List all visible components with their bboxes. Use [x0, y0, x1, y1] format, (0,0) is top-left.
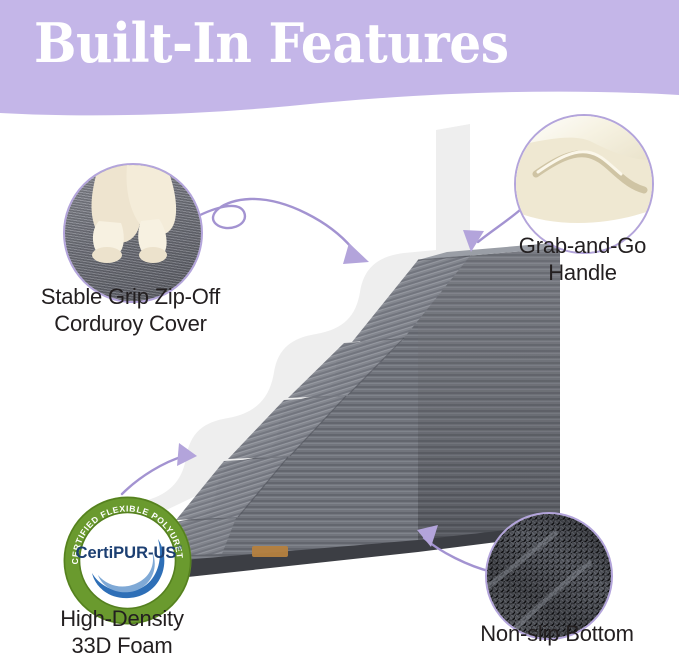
callout-label-handle: Grab-and-Go Handle — [480, 232, 679, 286]
callout-label-foam: High-Density 33D Foam — [22, 605, 222, 658]
header-banner: Built-In Features — [0, 0, 679, 125]
callout-label-nonslip: Non-slip Bottom — [442, 620, 672, 647]
callout-image-corduroy[interactable] — [63, 163, 203, 303]
callout-label-corduroy: Stable Grip Zip-Off Corduroy Cover — [3, 283, 258, 337]
badge-wordmark: CertiPUR-US — [76, 544, 177, 562]
dog-paws-illustration — [92, 165, 177, 263]
infographic-page: Built-In Features — [0, 0, 679, 658]
page-title: Built-In Features — [34, 12, 518, 74]
badge-registered-mark: ® — [177, 544, 183, 552]
brand-tag — [252, 546, 288, 557]
